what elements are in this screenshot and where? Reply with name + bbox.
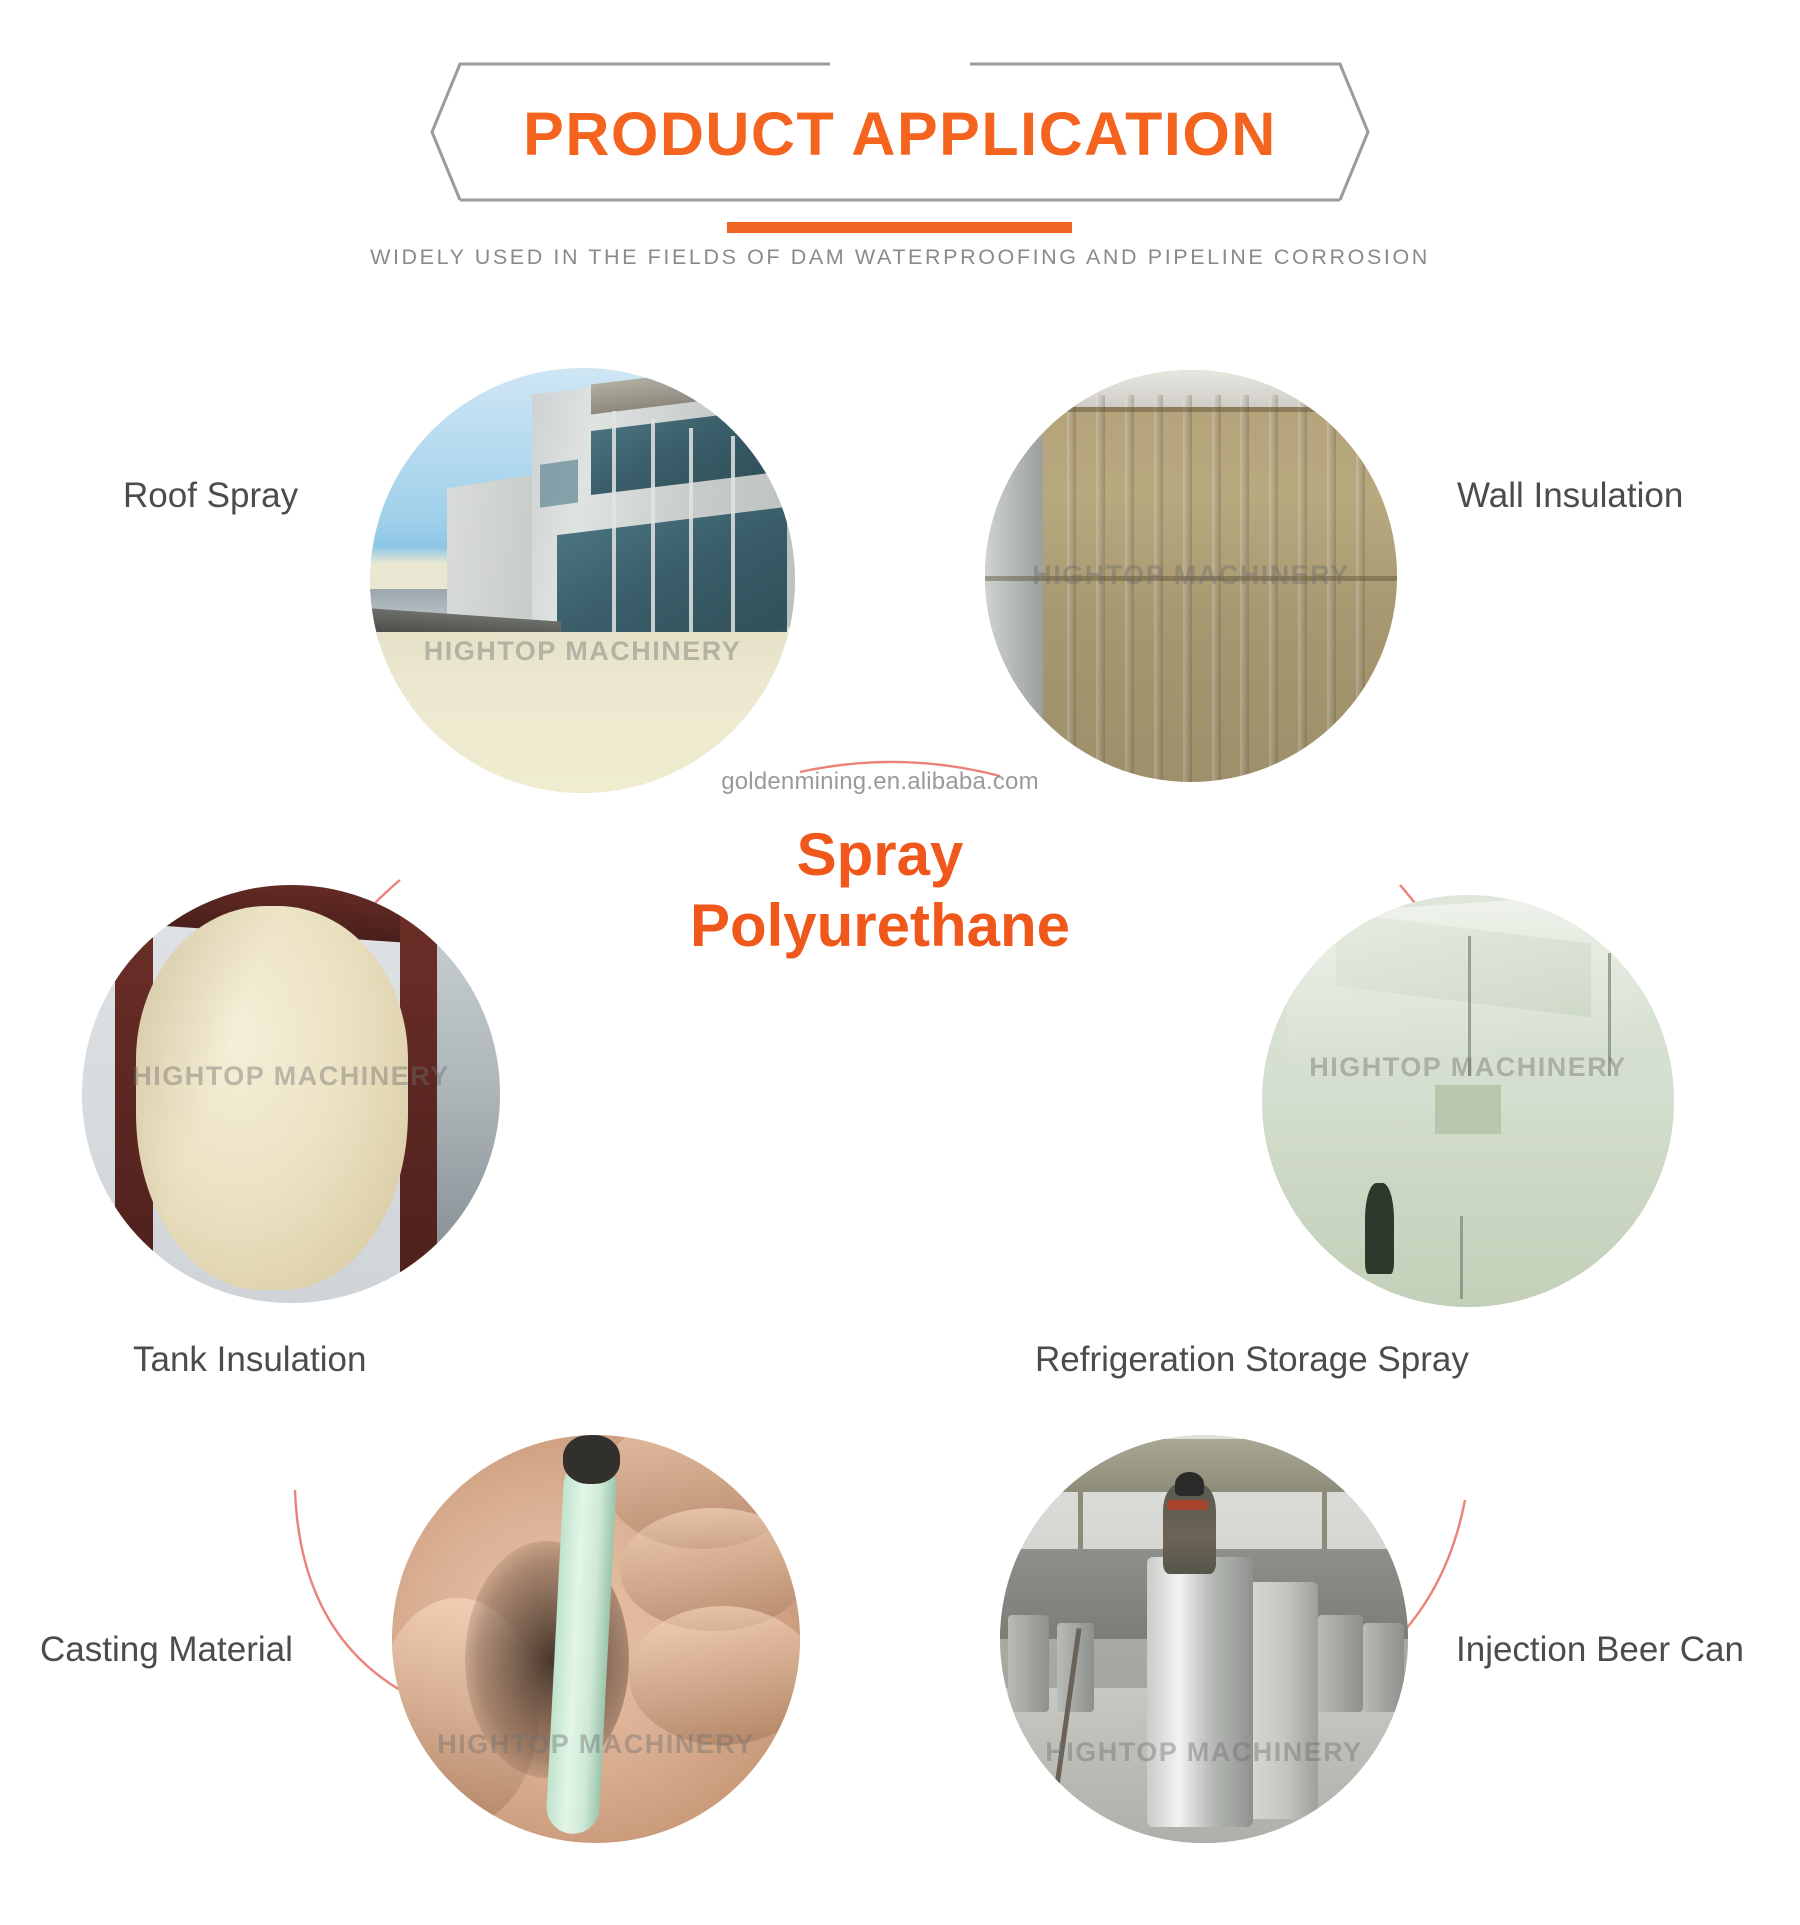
center-title-line-1: Spray <box>500 820 1260 891</box>
node-roof-spray[interactable]: HIGHTOP MACHINERY <box>370 368 795 793</box>
center-title-line-2: Polyurethane <box>500 891 1260 962</box>
header: PRODUCT APPLICATION WIDELY USED IN THE F… <box>0 0 1800 300</box>
site-watermark: goldenmining.en.alibaba.com <box>600 768 1160 796</box>
node-injection-beer-can[interactable]: HIGHTOP MACHINERY <box>1000 1435 1408 1843</box>
label-wall-insulation: Wall Insulation <box>1457 478 1683 513</box>
product-application-infographic: PRODUCT APPLICATION WIDELY USED IN THE F… <box>0 0 1800 1925</box>
label-injection-beer-can: Injection Beer Can <box>1456 1632 1744 1667</box>
refrigeration-storage-photo <box>1262 895 1674 1307</box>
node-casting-material[interactable]: HIGHTOP MACHINERY <box>392 1435 800 1843</box>
application-circle-diagram: HIGHTOP MACHINERY Roof Spray <box>0 300 1800 1925</box>
node-refrigeration-storage-spray[interactable]: HIGHTOP MACHINERY <box>1262 895 1674 1307</box>
wall-insulation-photo <box>985 370 1397 782</box>
tank-insulation-photo <box>82 885 500 1303</box>
label-refrigeration-storage-spray: Refrigeration Storage Spray <box>1035 1342 1469 1377</box>
roof-spray-photo <box>370 368 795 793</box>
label-tank-insulation: Tank Insulation <box>133 1342 366 1377</box>
casting-material-photo <box>392 1435 800 1843</box>
injection-beer-can-photo <box>1000 1435 1408 1843</box>
node-tank-insulation[interactable]: HIGHTOP MACHINERY <box>82 885 500 1303</box>
label-roof-spray: Roof Spray <box>123 478 298 513</box>
title-underline <box>727 222 1072 233</box>
node-wall-insulation[interactable]: HIGHTOP MACHINERY <box>985 370 1397 782</box>
label-casting-material: Casting Material <box>40 1632 293 1667</box>
page-subtitle: WIDELY USED IN THE FIELDS OF DAM WATERPR… <box>0 245 1800 270</box>
center-product-title: Spray Polyurethane <box>500 820 1260 962</box>
page-title: PRODUCT APPLICATION <box>0 104 1800 165</box>
